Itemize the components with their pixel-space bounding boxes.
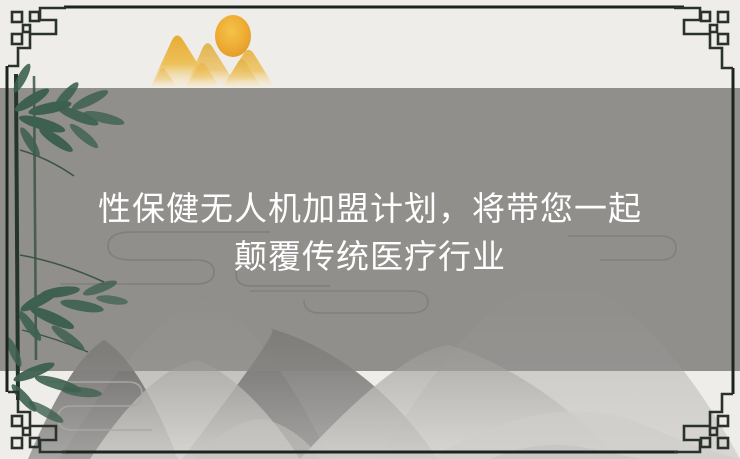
- corner-ornament-top-right: [674, 8, 733, 68]
- band-tint-overlay: [0, 88, 740, 371]
- poster-canvas: 性保健无人机加盟计划，将带您一起 颠覆传统医疗行业: [0, 0, 740, 459]
- corner-ornament-top-left: [8, 8, 66, 66]
- gold-mountain-illustration: [150, 15, 275, 88]
- sun-icon: [215, 15, 251, 57]
- poster-artwork: [0, 0, 740, 459]
